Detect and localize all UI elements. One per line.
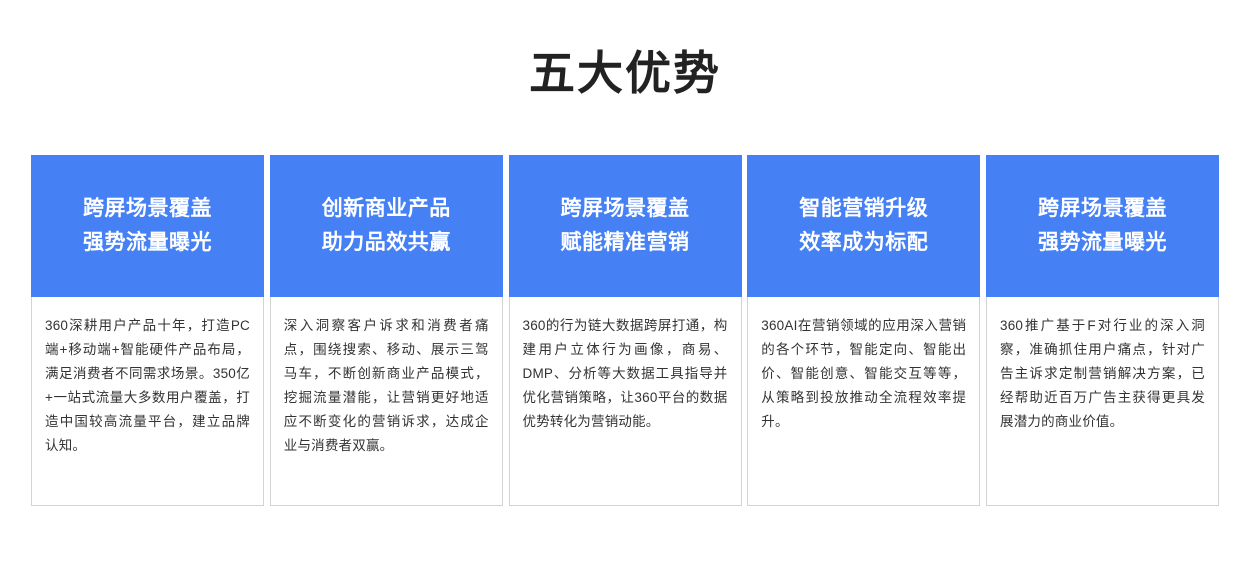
advantage-card-description: 360AI在营销领域的应用深入营销的各个环节，智能定向、智能出价、智能创意、智能… bbox=[761, 314, 966, 434]
advantage-card[interactable]: 智能营销升级 效率成为标配 360AI在营销领域的应用深入营销的各个环节，智能定… bbox=[747, 155, 980, 506]
advantage-card-description: 360深耕用户产品十年，打造PC端+移动端+智能硬件产品布局，满足消费者不同需求… bbox=[45, 314, 250, 458]
advantage-card-header: 跨屏场景覆盖 赋能精准营销 bbox=[509, 155, 742, 297]
page-title: 五大优势 bbox=[0, 42, 1250, 104]
advantage-card-description: 深入洞察客户诉求和消费者痛点，围绕搜索、移动、展示三驾马车，不断创新商业产品模式… bbox=[284, 314, 489, 458]
advantage-card-title-line1: 智能营销升级 bbox=[799, 192, 928, 226]
advantage-card-body: 深入洞察客户诉求和消费者痛点，围绕搜索、移动、展示三驾马车，不断创新商业产品模式… bbox=[270, 297, 503, 506]
advantage-card-title-line1: 跨屏场景覆盖 bbox=[83, 192, 212, 226]
advantage-card-header: 跨屏场景覆盖 强势流量曝光 bbox=[986, 155, 1219, 297]
advantage-card-header: 跨屏场景覆盖 强势流量曝光 bbox=[31, 155, 264, 297]
advantage-card-title-line1: 跨屏场景覆盖 bbox=[561, 192, 690, 226]
advantage-card-body: 360深耕用户产品十年，打造PC端+移动端+智能硬件产品布局，满足消费者不同需求… bbox=[31, 297, 264, 506]
advantage-card-header: 智能营销升级 效率成为标配 bbox=[747, 155, 980, 297]
advantage-card[interactable]: 创新商业产品 助力品效共赢 深入洞察客户诉求和消费者痛点，围绕搜索、移动、展示三… bbox=[270, 155, 503, 506]
advantage-card-body: 360的行为链大数据跨屏打通，构建用户立体行为画像，商易、DMP、分析等大数据工… bbox=[509, 297, 742, 506]
advantage-card-body: 360推广基于F对行业的深入洞察，准确抓住用户痛点，针对广告主诉求定制营销解决方… bbox=[986, 297, 1219, 506]
advantage-card-title-line2: 助力品效共赢 bbox=[322, 226, 451, 260]
advantages-section: 五大优势 跨屏场景覆盖 强势流量曝光 360深耕用户产品十年，打造PC端+移动端… bbox=[0, 0, 1250, 564]
advantage-card-header: 创新商业产品 助力品效共赢 bbox=[270, 155, 503, 297]
advantage-card[interactable]: 跨屏场景覆盖 强势流量曝光 360深耕用户产品十年，打造PC端+移动端+智能硬件… bbox=[31, 155, 264, 506]
advantage-card[interactable]: 跨屏场景覆盖 赋能精准营销 360的行为链大数据跨屏打通，构建用户立体行为画像，… bbox=[509, 155, 742, 506]
advantage-card-body: 360AI在营销领域的应用深入营销的各个环节，智能定向、智能出价、智能创意、智能… bbox=[747, 297, 980, 506]
advantage-card[interactable]: 跨屏场景覆盖 强势流量曝光 360推广基于F对行业的深入洞察，准确抓住用户痛点，… bbox=[986, 155, 1219, 506]
advantage-card-title-line2: 赋能精准营销 bbox=[561, 226, 690, 260]
advantage-cards-row: 跨屏场景覆盖 强势流量曝光 360深耕用户产品十年，打造PC端+移动端+智能硬件… bbox=[31, 155, 1219, 506]
advantage-card-title-line2: 效率成为标配 bbox=[799, 226, 928, 260]
advantage-card-description: 360的行为链大数据跨屏打通，构建用户立体行为画像，商易、DMP、分析等大数据工… bbox=[523, 314, 728, 434]
advantage-card-description: 360推广基于F对行业的深入洞察，准确抓住用户痛点，针对广告主诉求定制营销解决方… bbox=[1000, 314, 1205, 434]
advantage-card-title-line1: 创新商业产品 bbox=[322, 192, 451, 226]
advantage-card-title-line2: 强势流量曝光 bbox=[1038, 226, 1167, 260]
advantage-card-title-line1: 跨屏场景覆盖 bbox=[1038, 192, 1167, 226]
advantage-card-title-line2: 强势流量曝光 bbox=[83, 226, 212, 260]
